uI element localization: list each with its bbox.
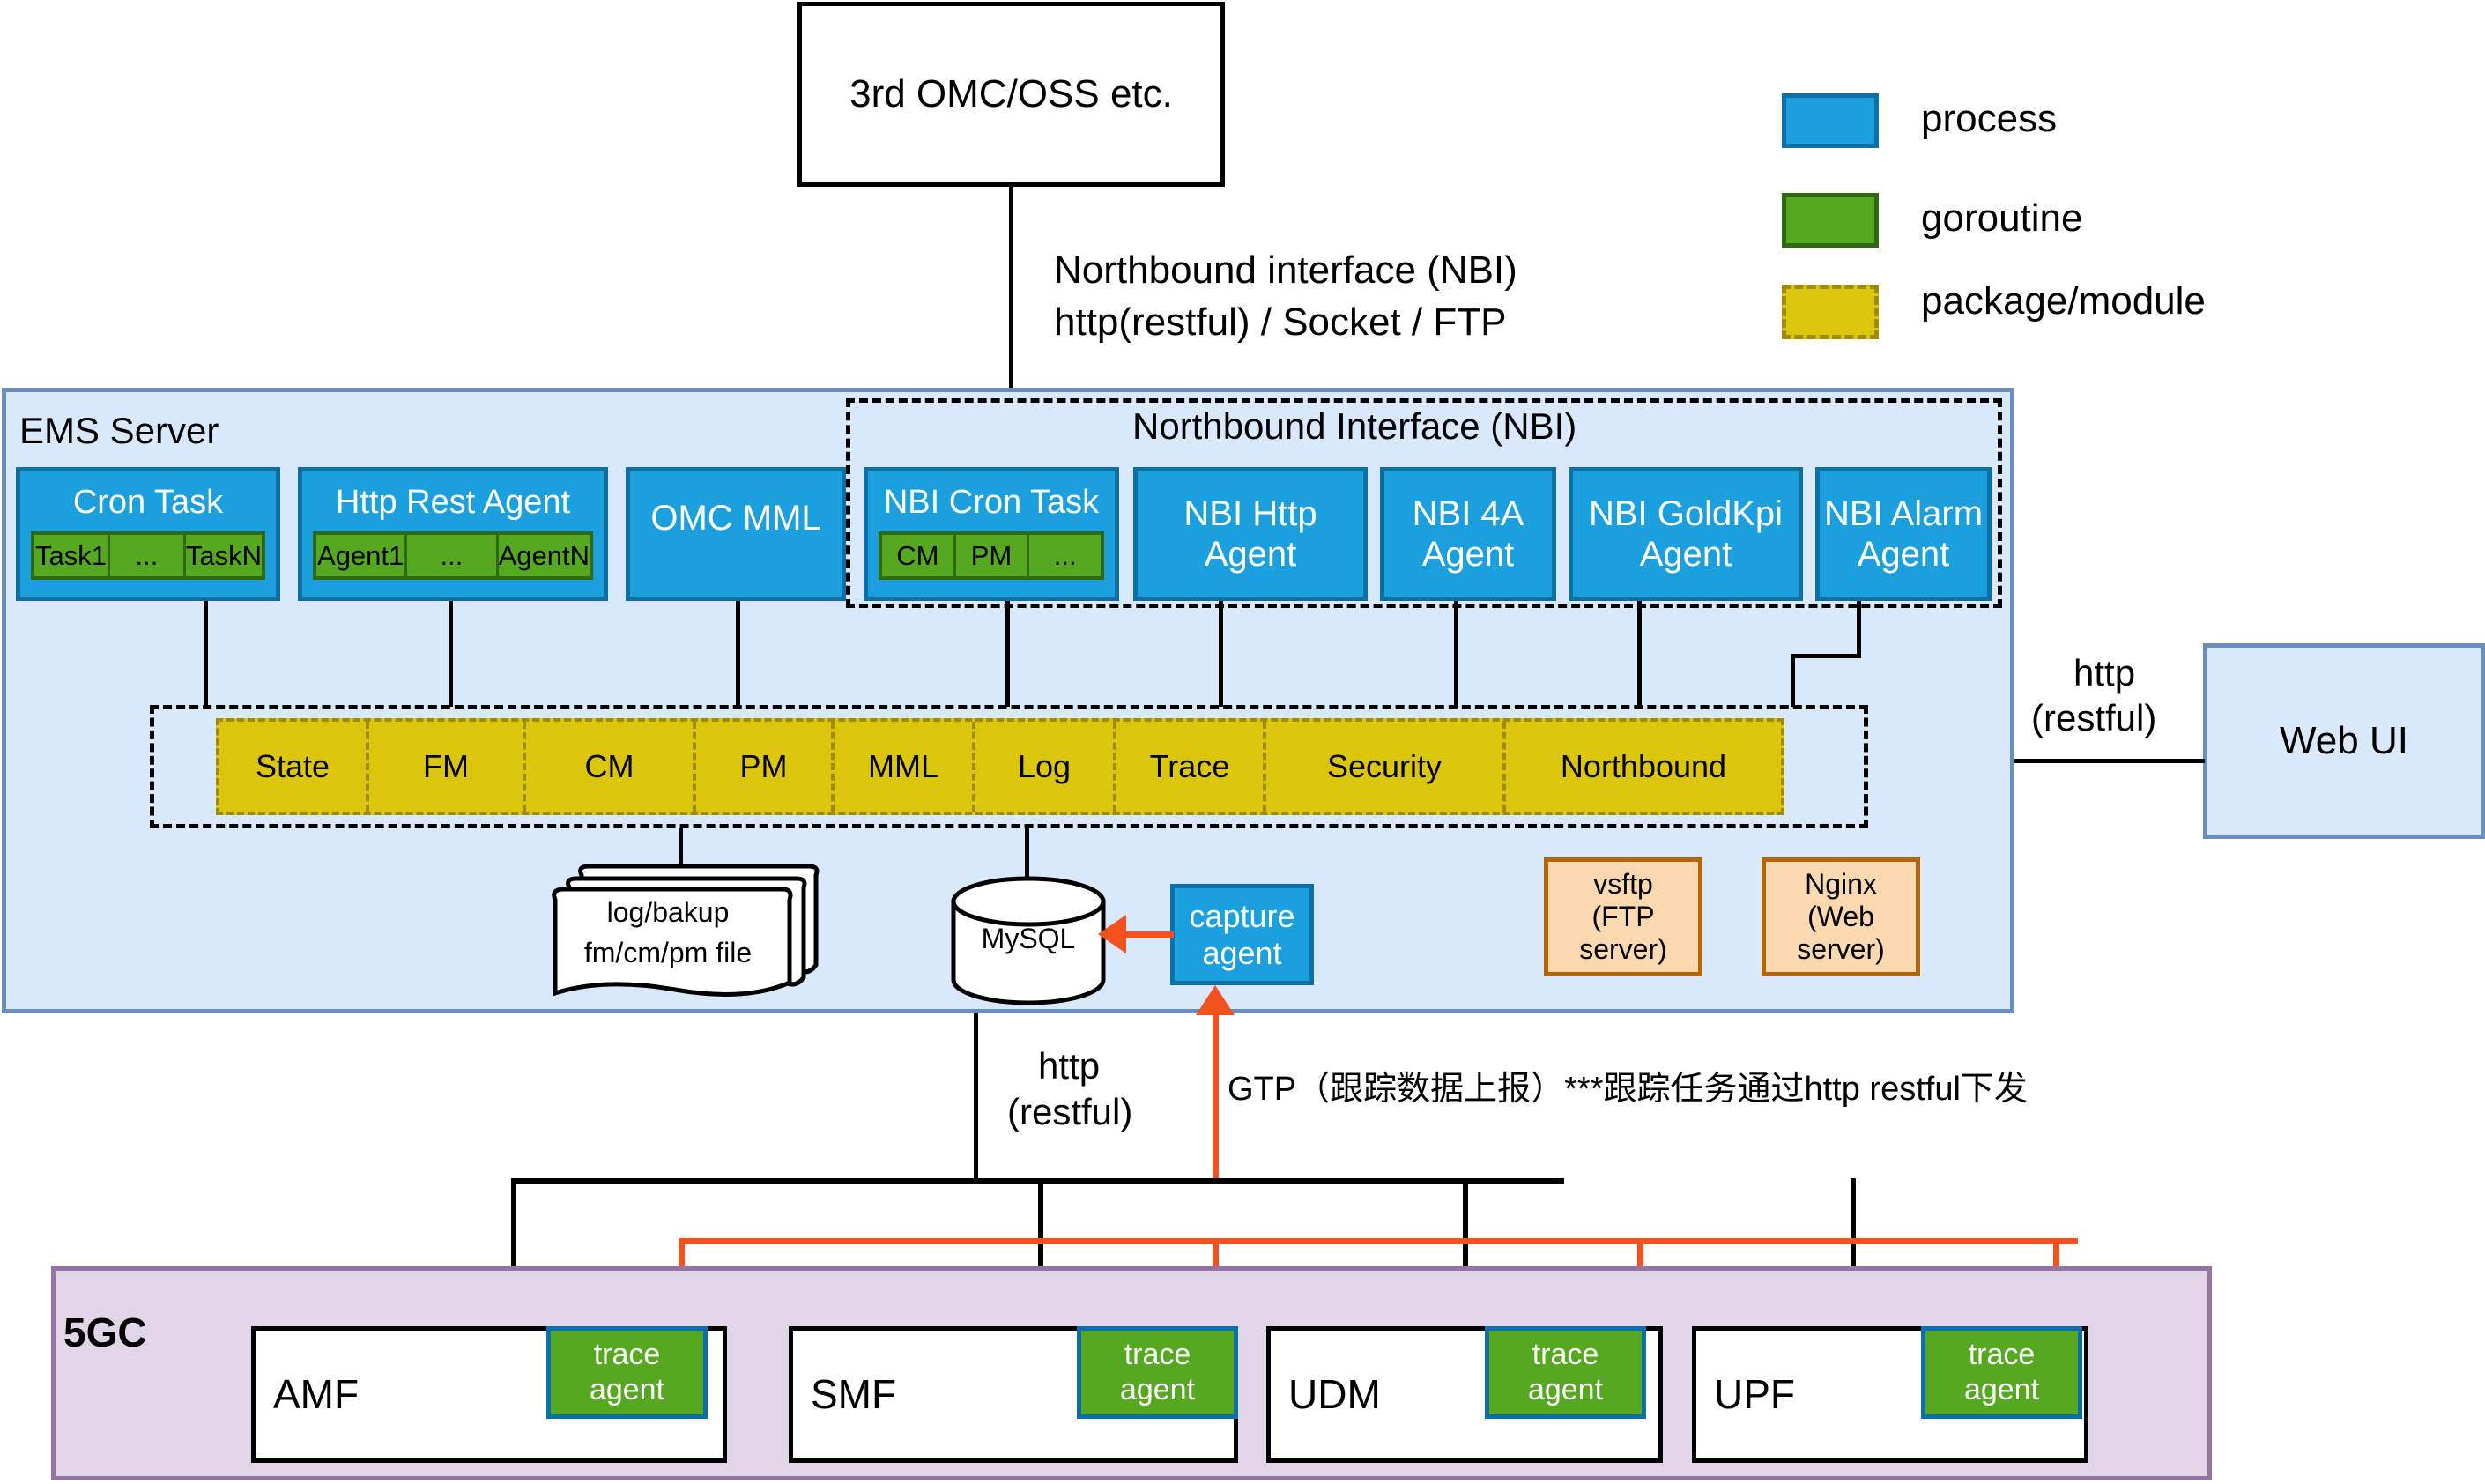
connector-http-rest-agent <box>449 601 453 707</box>
diagram-canvas: 3rd OMC/OSS etc. Northbound interface (N… <box>0 0 2485 1484</box>
module-security[interactable]: Security <box>1266 722 1506 812</box>
goroutine-cell[interactable]: ... <box>1029 535 1101 577</box>
capture-agent-label-line2: agent <box>1175 935 1309 971</box>
module-state[interactable]: State <box>219 722 369 812</box>
process-nbi-4a-agent[interactable]: NBI 4A Agent <box>1380 467 1556 601</box>
connector-nbi-alarm-agent-v2 <box>1791 654 1795 707</box>
vsftp-server-box[interactable]: vsftp (FTP server) <box>1544 857 1702 976</box>
goroutine-cell[interactable]: CM <box>882 535 956 577</box>
process-omc-mml[interactable]: OMC MML <box>626 467 846 601</box>
trace-agent-udm[interactable]: trace agent <box>1485 1326 1646 1419</box>
trace-agent-amf-label-line2: agent <box>590 1373 664 1407</box>
ems-server-title: EMS Server <box>19 410 219 452</box>
goroutine-cell[interactable]: Task1 <box>34 535 110 577</box>
connector-nbi-http-agent <box>1219 601 1223 707</box>
connector-cron-task <box>204 601 208 707</box>
gtp-trace-uplink-line <box>1213 1013 1219 1181</box>
web-ui-link-label-line1: http <box>2073 652 2135 694</box>
nginx-label-line1: Nginx <box>1805 868 1877 901</box>
web-ui-connector-line <box>2014 759 2205 763</box>
web-ui-box[interactable]: Web UI <box>2203 643 2485 839</box>
connector-nbi-alarm-agent-h <box>1791 654 1861 658</box>
network-function-smf-label: SMF <box>811 1371 896 1418</box>
process-nbi-http-agent[interactable]: NBI Http Agent <box>1133 467 1368 601</box>
log-backup-label-line2: fm/cm/pm file <box>546 937 790 969</box>
capture-agent-label-line1: capture <box>1175 898 1309 934</box>
goroutine-cell[interactable]: AgentN <box>499 535 590 577</box>
goroutine-cell[interactable]: ... <box>110 535 186 577</box>
legend-swatch-goroutine <box>1782 193 1879 248</box>
connector-module-to-mysql <box>1025 828 1029 877</box>
trace-agent-smf-label-line2: agent <box>1120 1373 1195 1407</box>
ems-to-core-http-line <box>974 1013 978 1181</box>
network-function-upf-label: UPF <box>1714 1371 1795 1418</box>
nbi-link-label-line2: http(restful) / Socket / FTP <box>1054 301 1506 345</box>
nginx-label-line2: (Web server) <box>1766 901 1916 966</box>
goroutine-cell[interactable]: ... <box>407 535 498 577</box>
module-cm[interactable]: CM <box>526 722 696 812</box>
trace-agent-amf-label-line1: trace <box>594 1338 661 1372</box>
network-function-amf-label: AMF <box>273 1371 359 1418</box>
trace-agent-bus <box>679 1238 2078 1244</box>
connector-nbi-goldkpi-agent <box>1637 601 1642 707</box>
web-ui-link-label-line2: (restful) <box>2031 697 2156 739</box>
module-log[interactable]: Log <box>975 722 1116 812</box>
goroutine-strip-cron-task: Task1 ... TaskN <box>31 531 265 581</box>
trace-agent-amf[interactable]: trace agent <box>546 1326 708 1419</box>
module-northbound[interactable]: Northbound <box>1506 722 1781 812</box>
network-function-udm-label: UDM <box>1288 1371 1381 1418</box>
process-nbi-http-agent-label: NBI Http Agent <box>1138 493 1363 575</box>
trace-agent-udm-label-line1: trace <box>1532 1338 1599 1372</box>
goroutine-cell[interactable]: PM <box>956 535 1030 577</box>
nginx-server-box[interactable]: Nginx (Web server) <box>1762 857 1920 976</box>
goroutine-strip-nbi-cron-task: CM PM ... <box>879 531 1104 581</box>
http-link-label-line2: (restful) <box>1007 1091 1132 1133</box>
process-nbi-goldkpi-agent[interactable]: NBI GoldKpi Agent <box>1569 467 1803 601</box>
connector-nbi-alarm-agent-v1 <box>1857 601 1861 657</box>
process-http-rest-agent-label: Http Rest Agent <box>302 484 604 523</box>
vsftp-label-line1: vsftp <box>1593 868 1653 901</box>
trace-agent-smf-label-line1: trace <box>1124 1338 1191 1372</box>
trace-agent-udm-label-line2: agent <box>1528 1373 1603 1407</box>
legend-label-process: process <box>1921 97 2057 141</box>
capture-to-mysql-arrow-shaft <box>1123 931 1174 938</box>
legend-swatch-package-module <box>1782 285 1879 339</box>
process-nbi-cron-task-label: NBI Cron Task <box>868 484 1115 523</box>
mysql-label: MySQL <box>949 923 1108 955</box>
log-backup-file-stack[interactable]: log/bakup fm/cm/pm file <box>529 859 837 1000</box>
trace-agent-upf-label-line2: agent <box>1964 1373 2039 1407</box>
goroutine-cell[interactable]: Agent1 <box>316 535 407 577</box>
log-backup-label-line1: log/bakup <box>557 896 779 929</box>
module-mml[interactable]: MML <box>835 722 975 812</box>
module-pm[interactable]: PM <box>696 722 835 812</box>
gtp-trace-uplink-arrowhead <box>1196 985 1235 1015</box>
vsftp-label-line2: (FTP server) <box>1548 901 1698 966</box>
capture-to-mysql-arrow-head <box>1098 915 1126 953</box>
mysql-database-cylinder[interactable]: MySQL <box>949 877 1108 1005</box>
module-trace[interactable]: Trace <box>1116 722 1266 812</box>
core-network-title: 5GC <box>63 1309 147 1356</box>
web-ui-label: Web UI <box>2280 719 2408 764</box>
goroutine-strip-http-rest-agent: Agent1 ... AgentN <box>313 531 593 581</box>
nbi-connector-line <box>1009 187 1013 388</box>
trace-agent-upf[interactable]: trace agent <box>1921 1326 2082 1419</box>
process-cron-task[interactable]: Cron Task Task1 ... TaskN <box>16 467 280 601</box>
goroutine-cell[interactable]: TaskN <box>186 535 262 577</box>
process-http-rest-agent[interactable]: Http Rest Agent Agent1 ... AgentN <box>298 467 608 601</box>
gtp-note-label: GTP（跟踪数据上报）***跟踪任务通过http restful下发 <box>1228 1061 2028 1109</box>
legend-label-goroutine: goroutine <box>1921 197 2082 241</box>
connector-nbi-cron-task <box>1005 601 1010 707</box>
process-nbi-alarm-agent-label: NBI Alarm Agent <box>1820 493 1987 575</box>
trace-agent-upf-label-line1: trace <box>1969 1338 2036 1372</box>
nbi-link-label-line1: Northbound interface (NBI) <box>1054 249 1517 293</box>
legend-swatch-process <box>1782 93 1879 148</box>
third-party-omc-oss-label: 3rd OMC/OSS etc. <box>849 72 1173 117</box>
process-omc-mml-label: OMC MML <box>630 498 842 538</box>
http-link-label-line1: http <box>1038 1045 1100 1087</box>
process-nbi-cron-task[interactable]: NBI Cron Task CM PM ... <box>864 467 1119 601</box>
module-fm[interactable]: FM <box>369 722 526 812</box>
process-nbi-alarm-agent[interactable]: NBI Alarm Agent <box>1815 467 1992 601</box>
process-nbi-goldkpi-agent-label: NBI GoldKpi Agent <box>1573 493 1799 575</box>
connector-nbi-4a-agent <box>1454 601 1458 707</box>
connector-omc-mml <box>736 601 740 707</box>
third-party-omc-oss-box[interactable]: 3rd OMC/OSS etc. <box>797 2 1225 187</box>
process-cron-task-label: Cron Task <box>20 484 276 523</box>
capture-agent-box[interactable]: capture agent <box>1170 884 1314 985</box>
legend-label-package-module: package/module <box>1921 279 2206 323</box>
nbi-group-title: Northbound Interface (NBI) <box>1132 405 1576 448</box>
module-bar: State FM CM PM MML Log Trace Security No… <box>216 718 1784 815</box>
process-nbi-4a-agent-label: NBI 4A Agent <box>1384 493 1552 575</box>
trace-agent-smf[interactable]: trace agent <box>1077 1326 1238 1419</box>
